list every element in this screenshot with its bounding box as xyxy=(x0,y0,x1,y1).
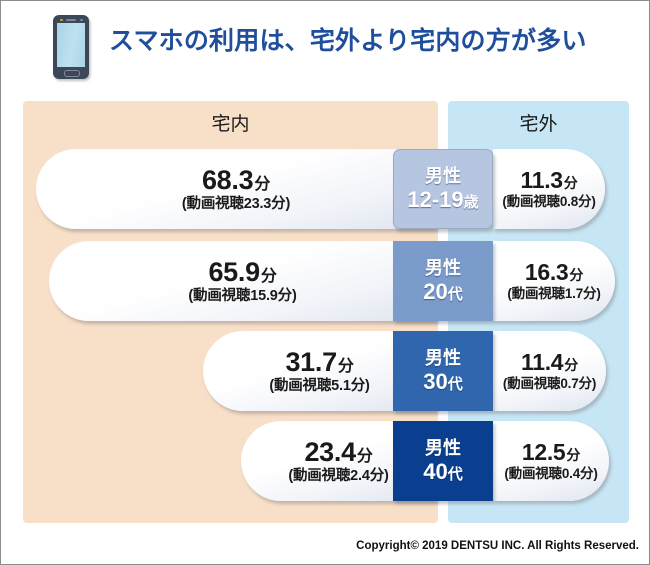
age-range-suffix: 代 xyxy=(448,286,463,303)
bar-inside-values: 31.7分 (動画視聴5.1分) xyxy=(269,348,369,395)
bar-inside-unit: 分 xyxy=(338,358,354,375)
bar-inside-value: 23.4 xyxy=(304,437,355,467)
bar-inside-value: 31.7 xyxy=(285,347,336,377)
age-gender-label: 男性 xyxy=(425,258,461,279)
bar-outside-unit: 分 xyxy=(564,357,578,373)
bar-outside: 16.3分 (動画視聴1.7分) xyxy=(493,241,615,321)
bar-inside-main: 65.9分 xyxy=(188,258,296,286)
bar-inside-value: 68.3 xyxy=(202,165,253,195)
bar-inside-sub: (動画視聴5.1分) xyxy=(269,379,369,394)
age-gender-label: 男性 xyxy=(425,348,461,369)
bar-outside-main: 11.4分 xyxy=(503,350,596,374)
age-range-value: 40 xyxy=(423,459,447,484)
bar-outside-value: 16.3 xyxy=(525,259,569,285)
bar-outside-value: 12.5 xyxy=(522,439,566,465)
chart-row: 68.3分 (動画視聴23.3分) 11.3分 (動画視聴0.8分) 男性 12… xyxy=(1,149,649,229)
bar-outside-value: 11.4 xyxy=(521,349,563,375)
chart-row: 23.4分 (動画視聴2.4分) 12.5分 (動画視聴0.4分) 男性 40代 xyxy=(1,421,649,501)
bar-outside-unit: 分 xyxy=(564,175,578,191)
bar-outside-unit: 分 xyxy=(566,447,580,463)
age-gender-label: 男性 xyxy=(425,166,461,187)
smartphone-sensor-left xyxy=(60,19,63,22)
bar-inside-value: 65.9 xyxy=(208,257,259,287)
infographic-page: スマホの利用は、宅外より宅内の方が多い 宅内 宅外 68.3分 (動画視聴23.… xyxy=(0,0,650,565)
bar-inside-sub: (動画視聴23.3分) xyxy=(182,197,290,212)
bar-outside-main: 16.3分 xyxy=(507,260,600,284)
bar-outside-value: 11.3 xyxy=(520,167,562,193)
panel-inside-label: 宅内 xyxy=(23,109,438,136)
bar-inside-main: 31.7分 xyxy=(269,348,369,376)
age-range-suffix: 歳 xyxy=(464,194,479,211)
smartphone-body xyxy=(53,15,89,79)
bar-outside-main: 11.3分 xyxy=(502,168,595,192)
bar-inside-main: 23.4分 xyxy=(288,438,388,466)
bar-inside-sub: (動画視聴15.9分) xyxy=(188,289,296,304)
chart-row: 65.9分 (動画視聴15.9分) 16.3分 (動画視聴1.7分) 男性 20… xyxy=(1,241,649,321)
smartphone-screen xyxy=(57,23,85,67)
age-group-label: 男性 12-19歳 xyxy=(393,149,493,229)
bar-outside: 11.3分 (動画視聴0.8分) xyxy=(493,149,605,229)
bar-outside: 12.5分 (動画視聴0.4分) xyxy=(493,421,609,501)
age-range-value: 20 xyxy=(423,279,447,304)
bar-outside-main: 12.5分 xyxy=(504,440,597,464)
bar-inside-unit: 分 xyxy=(261,268,277,285)
bar-outside-sub: (動画視聴1.7分) xyxy=(507,287,600,301)
bar-outside-values: 16.3分 (動画視聴1.7分) xyxy=(507,260,600,301)
chart-row: 31.7分 (動画視聴5.1分) 11.4分 (動画視聴0.7分) 男性 30代 xyxy=(1,331,649,411)
age-range-value: 12-19 xyxy=(407,187,463,212)
bar-outside-sub: (動画視聴0.4分) xyxy=(504,467,597,481)
bar-outside-unit: 分 xyxy=(569,267,583,283)
age-range-label: 12-19歳 xyxy=(407,187,478,212)
header: スマホの利用は、宅外より宅内の方が多い xyxy=(1,1,649,93)
bar-inside-values: 23.4分 (動画視聴2.4分) xyxy=(288,438,388,485)
chart-area: 宅内 宅外 68.3分 (動画視聴23.3分) 11.3分 (動画視聴0.8分)… xyxy=(1,93,649,521)
bar-inside-sub: (動画視聴2.4分) xyxy=(288,469,388,484)
page-title: スマホの利用は、宅外より宅内の方が多い xyxy=(109,21,587,57)
age-range-label: 30代 xyxy=(423,369,463,394)
panel-outside-label: 宅外 xyxy=(448,109,629,136)
age-range-label: 40代 xyxy=(423,459,463,484)
age-group-label: 男性 40代 xyxy=(393,421,493,501)
smartphone-home-button xyxy=(64,70,80,77)
age-group-label: 男性 30代 xyxy=(393,331,493,411)
bar-inside-values: 65.9分 (動画視聴15.9分) xyxy=(188,258,296,305)
bar-inside-unit: 分 xyxy=(357,448,373,465)
bar-inside-main: 68.3分 xyxy=(182,166,290,194)
bar-inside: 65.9分 (動画視聴15.9分) xyxy=(49,241,436,321)
bar-outside: 11.4分 (動画視聴0.7分) xyxy=(493,331,606,411)
bar-outside-sub: (動画視聴0.8分) xyxy=(502,195,595,209)
bar-outside-values: 11.4分 (動画視聴0.7分) xyxy=(503,350,596,391)
age-group-label: 男性 20代 xyxy=(393,241,493,321)
copyright-notice: Copyright© 2019 DENTSU INC. All Rights R… xyxy=(1,540,639,552)
smartphone-speaker xyxy=(66,19,76,22)
smartphone-sensor-right xyxy=(80,19,83,22)
age-range-suffix: 代 xyxy=(448,376,463,393)
age-range-suffix: 代 xyxy=(448,466,463,483)
bar-outside-values: 12.5分 (動画視聴0.4分) xyxy=(504,440,597,481)
smartphone-icon xyxy=(53,15,89,79)
bar-outside-sub: (動画視聴0.7分) xyxy=(503,377,596,391)
bar-inside: 68.3分 (動画視聴23.3分) xyxy=(36,149,436,229)
bar-inside-values: 68.3分 (動画視聴23.3分) xyxy=(182,166,290,213)
bar-inside-unit: 分 xyxy=(254,176,270,193)
age-range-value: 30 xyxy=(423,369,447,394)
age-range-label: 20代 xyxy=(423,279,463,304)
bar-outside-values: 11.3分 (動画視聴0.8分) xyxy=(502,168,595,209)
age-gender-label: 男性 xyxy=(425,438,461,459)
